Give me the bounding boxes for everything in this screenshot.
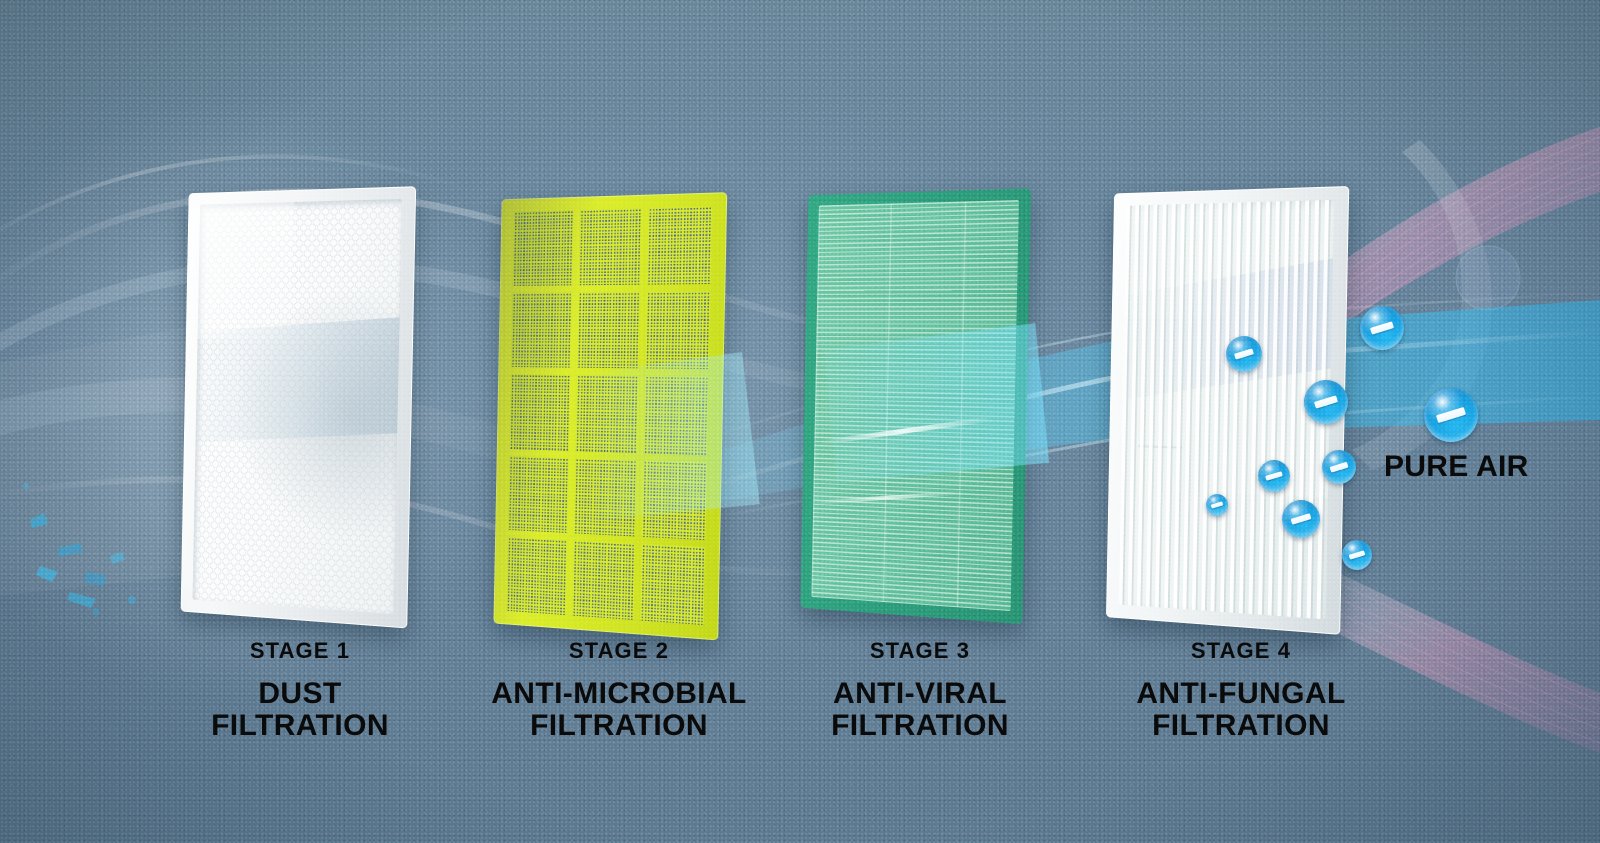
negative-ion (1226, 336, 1262, 372)
filter-panel-stage-2[interactable] (493, 192, 727, 640)
mesh-cell (509, 374, 570, 450)
stage-number-label: STAGE 1 (140, 640, 460, 662)
mesh-cell (508, 455, 569, 532)
mesh-cell (513, 210, 574, 286)
negative-ion (1282, 500, 1320, 538)
filter-panel-stage-1[interactable] (181, 186, 417, 628)
infographic-canvas: PURE AIR STAGE 1 DUST FILTRATION STAGE 2… (0, 0, 1600, 843)
filter-panel-stage-3[interactable] (800, 188, 1031, 624)
mesh-cell (647, 206, 712, 285)
negative-ion (1342, 540, 1372, 570)
negative-ion (1360, 306, 1404, 350)
stage-name-label: DUST FILTRATION (140, 678, 460, 741)
negative-ion (1258, 460, 1290, 492)
negative-ion (1304, 380, 1348, 424)
stage-name-label: ANTI-FUNGAL FILTRATION (1081, 678, 1401, 741)
negative-ion (1424, 388, 1478, 442)
mesh-cell (577, 292, 640, 369)
caption-stage-4: STAGE 4 ANTI-FUNGAL FILTRATION (1081, 640, 1401, 741)
honeycomb-texture (193, 199, 402, 614)
stage-number-label: STAGE 3 (760, 640, 1080, 662)
scratch-line (1138, 446, 1182, 449)
negative-ion (1206, 494, 1228, 516)
caption-stage-3: STAGE 3 ANTI-VIRAL FILTRATION (760, 640, 1080, 741)
stage-number-label: STAGE 2 (459, 640, 779, 662)
filter-media-honeycomb (193, 199, 402, 614)
mesh-cell (506, 537, 567, 616)
filter-media-horizontal-pleats (811, 200, 1019, 611)
negative-ion (1322, 450, 1356, 484)
mesh-cell (645, 291, 710, 369)
mesh-cell (572, 540, 635, 620)
caption-stage-1: STAGE 1 DUST FILTRATION (140, 640, 460, 741)
filter-media-vertical-pleats (1119, 200, 1334, 620)
mesh-cell (574, 458, 637, 537)
mesh-cell (511, 292, 572, 368)
glass-highlight (1119, 200, 1249, 318)
mesh-cell (640, 544, 705, 625)
stage-number-label: STAGE 4 (1081, 640, 1401, 662)
mesh-cell (642, 460, 707, 540)
mesh-cell (579, 208, 642, 285)
pure-air-label: PURE AIR (1384, 450, 1529, 484)
caption-stage-2: STAGE 2 ANTI-MICROBIAL FILTRATION (459, 640, 779, 741)
filter-media-grid-mesh (506, 206, 712, 625)
airflow-sheen (1119, 256, 1334, 400)
mesh-cell (575, 375, 638, 453)
mesh-cell (643, 376, 708, 455)
stage-name-label: ANTI-MICROBIAL FILTRATION (459, 678, 779, 741)
stage-name-label: ANTI-VIRAL FILTRATION (760, 678, 1080, 741)
